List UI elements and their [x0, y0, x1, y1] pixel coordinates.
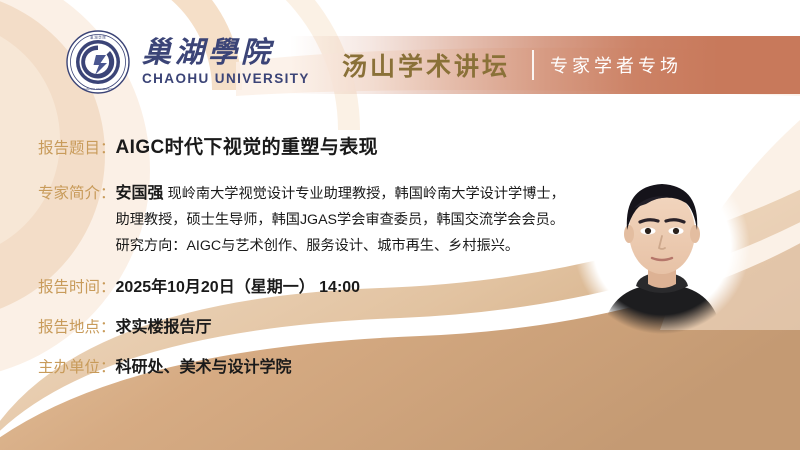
talk-place-label: 报告地点： [38, 315, 116, 337]
speaker-name: 安国强 [116, 185, 164, 202]
talk-organizer-row: 主办单位： 科研处、美术与设计学院 [38, 353, 598, 377]
chaohu-university-seal-icon: 巢 湖 學 院 CHAOHU UNIVERSITY [66, 30, 130, 94]
talk-title-row: 报告题目： AIGC时代下视觉的重塑与表现 [38, 132, 598, 159]
talk-time-row: 报告时间： 2025年10月20日（星期一） 14:00 [38, 273, 598, 297]
poster-root: 巢 湖 學 院 CHAOHU UNIVERSITY 巢湖學院 CHAOHU UN… [0, 0, 800, 450]
university-name-cn: 巢湖學院 [142, 38, 310, 68]
talk-time-value: 2025年10月20日（星期一） 14:00 [116, 273, 361, 297]
banner-divider [532, 50, 534, 80]
talk-organizer-label: 主办单位： [38, 355, 116, 377]
talk-place-value: 求实楼报告厅 [116, 313, 212, 337]
poster-content: 报告题目： AIGC时代下视觉的重塑与表现 专家简介： 安国强现岭南大学视觉设计… [38, 132, 598, 393]
speaker-bio-line-1-rest: 现岭南大学视觉设计专业助理教授，韩国岭南大学设计学博士， [168, 186, 565, 202]
speaker-bio-body: 安国强现岭南大学视觉设计专业助理教授，韩国岭南大学设计学博士， 助理教授，硕士生… [116, 181, 565, 259]
banner-subtitle: 专家学者专场 [550, 52, 682, 78]
svg-text:巢 湖 學 院: 巢 湖 學 院 [90, 35, 106, 40]
poster-header: 巢 湖 學 院 CHAOHU UNIVERSITY 巢湖學院 CHAOHU UN… [0, 0, 800, 112]
speaker-bio-line-2: 助理教授，硕士生导师，韩国JGAS学会审查委员，韩国交流学会会员。 [116, 207, 565, 233]
speaker-bio-line-3: 研究方向：AIGC与艺术创作、服务设计、城市再生、乡村振兴。 [116, 233, 565, 259]
speaker-bio-line-1: 安国强现岭南大学视觉设计专业助理教授，韩国岭南大学设计学博士， [116, 181, 565, 207]
university-name-en: CHAOHU UNIVERSITY [142, 71, 310, 86]
talk-place-row: 报告地点： 求实楼报告厅 [38, 313, 598, 337]
talk-organizer-value: 科研处、美术与设计学院 [116, 353, 292, 377]
speaker-bio-label: 专家简介： [38, 181, 116, 203]
event-banner: 汤山学术讲坛 专家学者专场 [290, 36, 800, 94]
university-logo-block: 巢 湖 學 院 CHAOHU UNIVERSITY 巢湖學院 CHAOHU UN… [66, 30, 310, 94]
talk-title-value: AIGC时代下视觉的重塑与表现 [116, 132, 379, 159]
talk-time-label: 报告时间： [38, 275, 116, 297]
talk-title-label: 报告题目： [38, 136, 116, 158]
speaker-bio-row: 专家简介： 安国强现岭南大学视觉设计专业助理教授，韩国岭南大学设计学博士， 助理… [38, 181, 598, 259]
banner-title: 汤山学术讲坛 [342, 47, 510, 83]
speaker-portrait [574, 158, 750, 334]
svg-text:CHAOHU UNIVERSITY: CHAOHU UNIVERSITY [82, 87, 114, 91]
